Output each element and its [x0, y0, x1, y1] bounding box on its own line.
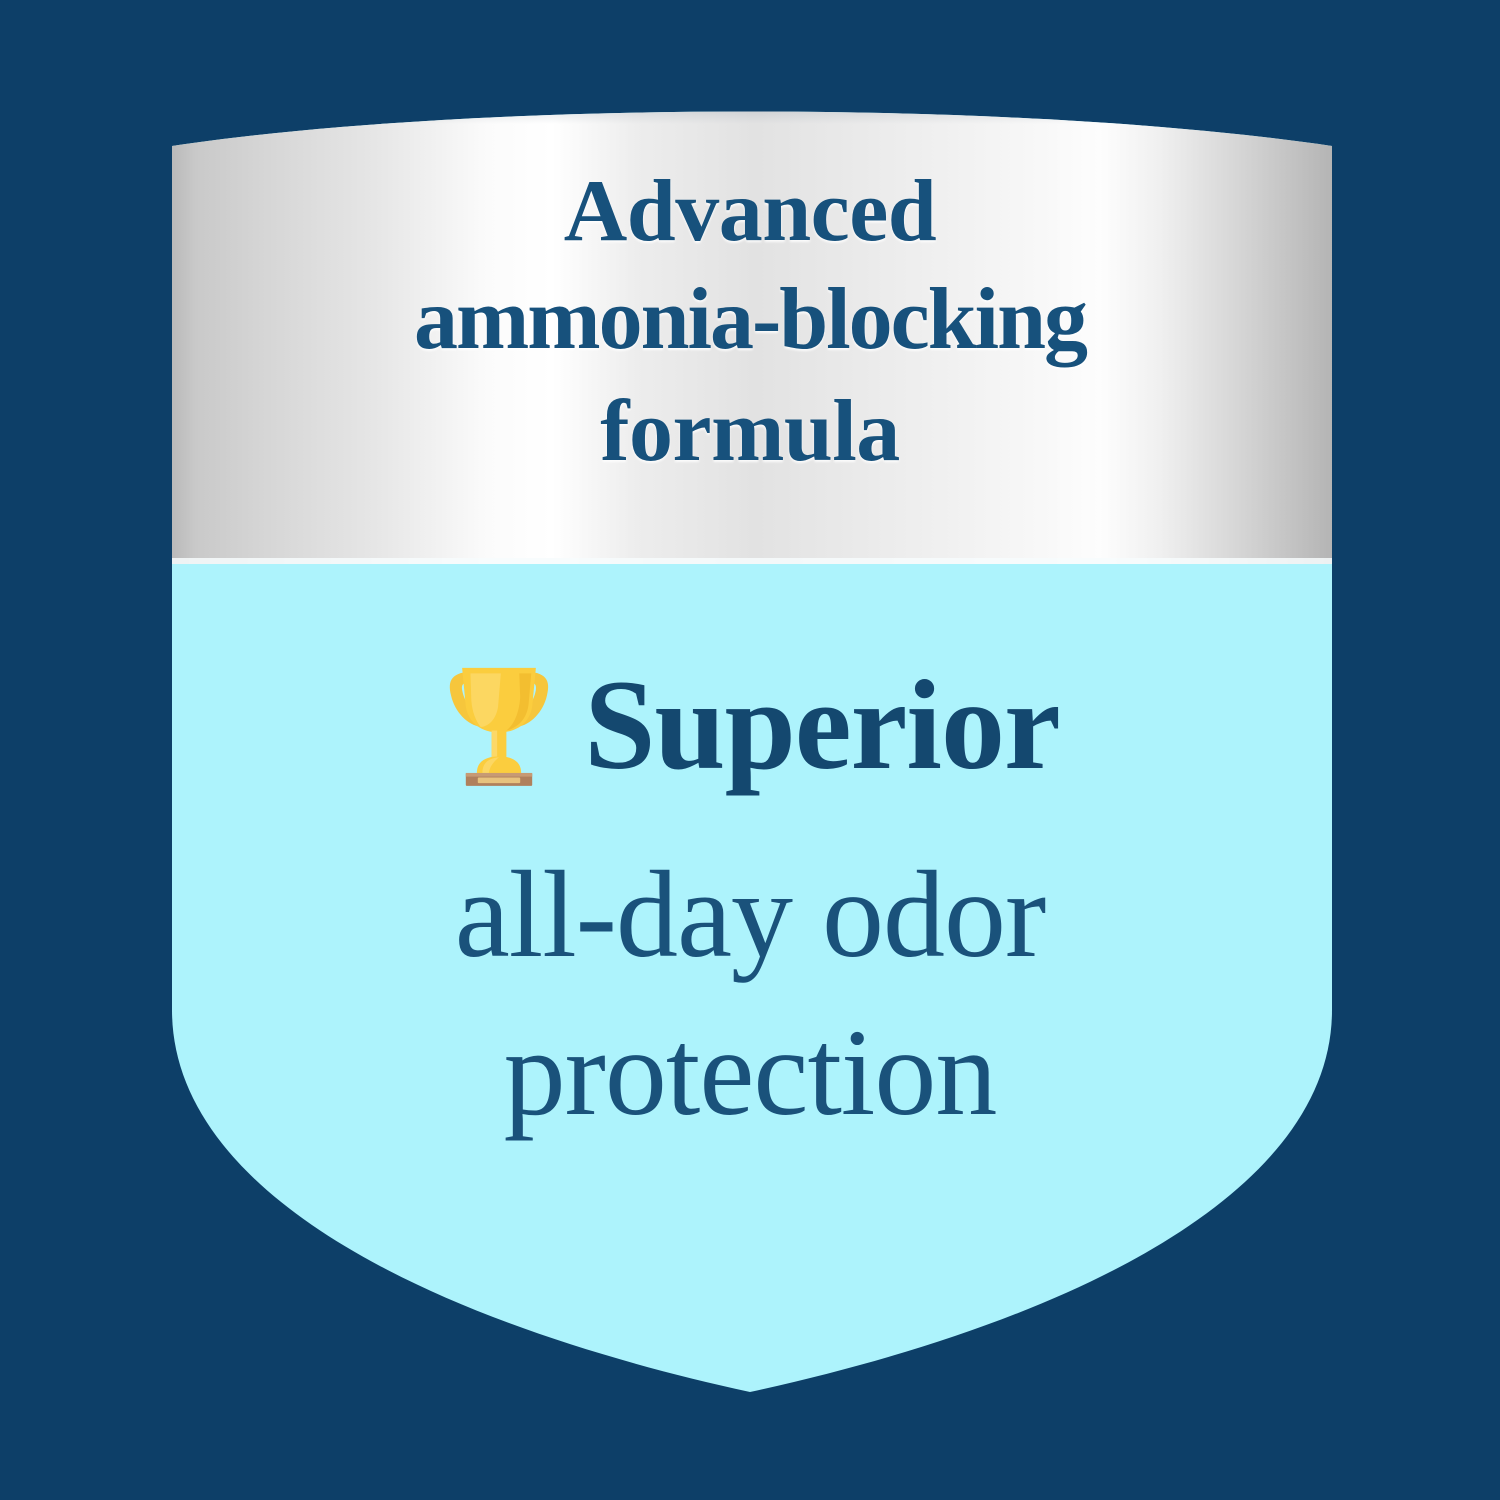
- claim-block: Superior all-day odor protection: [0, 645, 1500, 1205]
- claim-headline-row: Superior: [0, 645, 1500, 805]
- claim-headline: Superior: [584, 660, 1060, 790]
- trophy-icon: [440, 660, 558, 790]
- banner-seam-highlight: [160, 558, 1350, 564]
- claim-subline-2: protection: [0, 997, 1500, 1149]
- banner-headline-line-3: formula: [0, 376, 1500, 488]
- banner-headline-line-2: ammonia-blocking: [0, 264, 1500, 376]
- banner-headline-block: Advanced ammonia-blocking formula: [0, 160, 1500, 540]
- banner-headline-line-1: Advanced: [0, 160, 1500, 264]
- badge-graphic: Advanced ammonia-blocking formula: [0, 0, 1500, 1500]
- claim-subline-1: all-day odor: [0, 839, 1500, 991]
- silver-banner-top-shade: [160, 90, 1350, 124]
